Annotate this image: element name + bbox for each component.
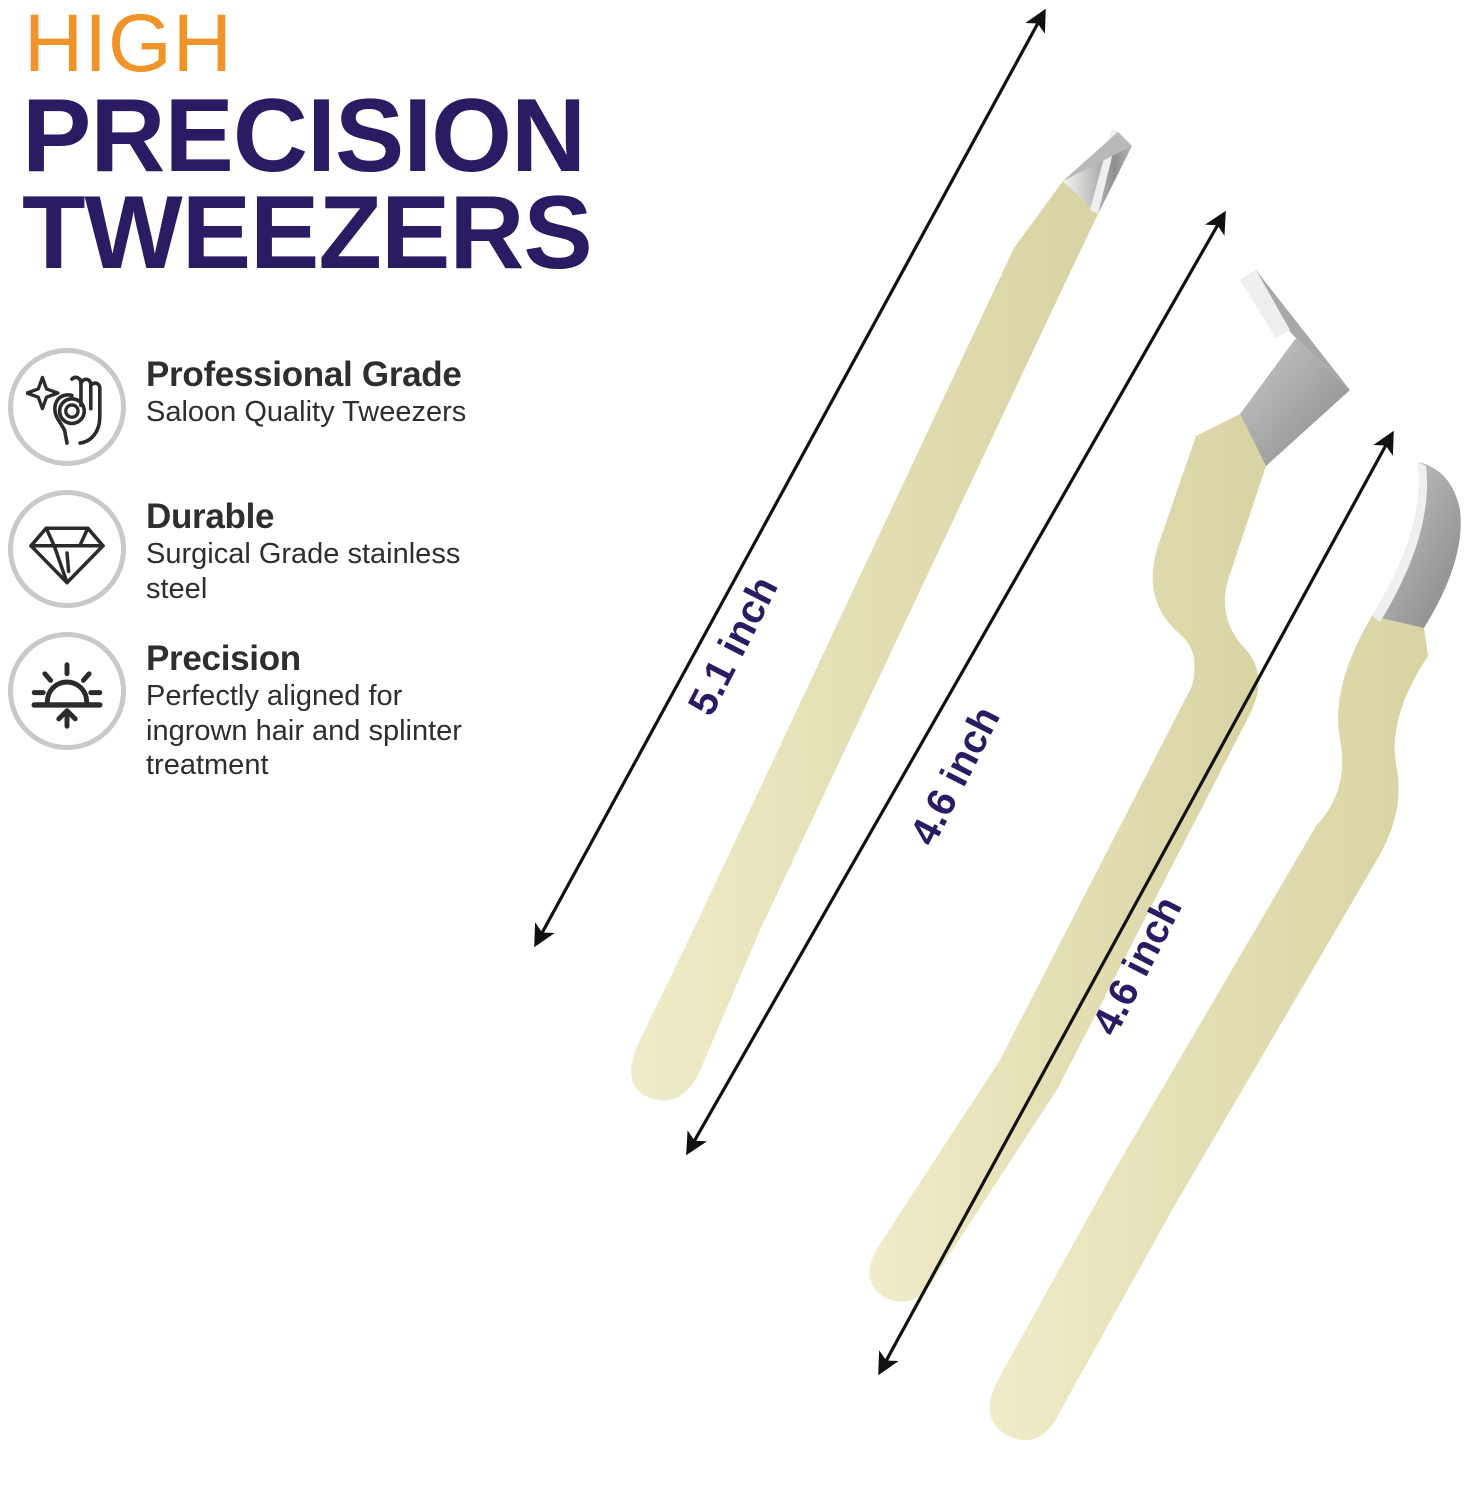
tweezer-tip-highlight	[1372, 462, 1427, 622]
curved-tip-tweezer	[990, 462, 1461, 1440]
tweezer-tip-upper-arm	[1240, 270, 1350, 390]
dimension-label-1: 4.6 inch	[902, 700, 1010, 853]
ok-hand-sparkle-icon	[8, 348, 126, 466]
dimension-arrow-2	[880, 434, 1392, 1372]
tweezer-tip-highlight	[1090, 128, 1118, 214]
tweezer-tip-shade	[1063, 132, 1132, 181]
feature-item-durable: Durable Surgical Grade stainless steel	[8, 490, 478, 608]
feature-description: Saloon Quality Tweezers	[146, 395, 466, 429]
feature-text-block: Precision Perfectly aligned for ingrown …	[146, 632, 476, 782]
page-title: HIGH PRECISION TWEEZERS	[20, 4, 700, 282]
dimension-arrow-1	[688, 214, 1224, 1152]
feature-title: Durable	[146, 498, 476, 535]
feature-description: Surgical Grade stainless steel	[146, 537, 476, 605]
sunrise-arrow-icon	[8, 632, 126, 750]
feature-text-block: Professional Grade Saloon Quality Tweeze…	[146, 348, 466, 430]
feature-item-precision: Precision Perfectly aligned for ingrown …	[8, 632, 478, 782]
feature-description: Perfectly aligned for ingrown hair and s…	[146, 679, 476, 782]
dimension-label-0: 5.1 inch	[680, 570, 788, 723]
diamond-icon	[8, 490, 126, 608]
tweezer-handle	[631, 181, 1098, 1101]
tweezer-tip-lower-arm	[1240, 338, 1350, 466]
tweezer-tip	[1063, 132, 1132, 214]
feature-text-block: Durable Surgical Grade stainless steel	[146, 490, 476, 606]
dimension-label-2: 4.6 inch	[1084, 890, 1192, 1043]
title-line-1: PRECISION	[22, 88, 700, 185]
pointed-tip-tweezer	[631, 128, 1132, 1101]
tweezer-handle	[869, 414, 1266, 1302]
tweezer-tip-highlight	[1240, 270, 1290, 338]
title-eyebrow: HIGH	[20, 4, 700, 84]
product-infographic: HIGH PRECISION TWEEZERS	[0, 0, 1468, 1500]
feature-list: Professional Grade Saloon Quality Tweeze…	[8, 348, 478, 806]
title-main: PRECISION TWEEZERS	[20, 84, 700, 281]
feature-title: Professional Grade	[146, 356, 466, 393]
feature-title: Precision	[146, 640, 476, 677]
tweezer-handle	[990, 616, 1428, 1440]
feature-item-professional-grade: Professional Grade Saloon Quality Tweeze…	[8, 348, 478, 466]
tweezer-tip	[1372, 462, 1461, 628]
title-line-2: TWEEZERS	[22, 185, 700, 282]
